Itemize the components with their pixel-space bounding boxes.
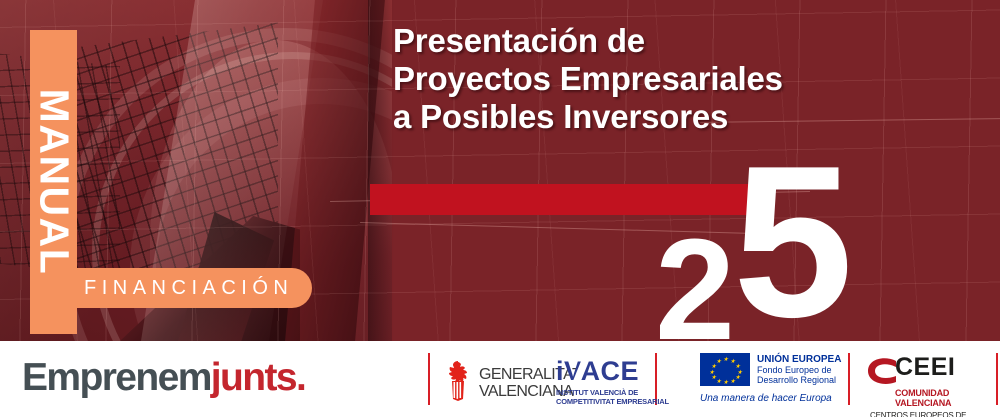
issue-number-units-digit: 5 <box>733 133 847 341</box>
eu-title: UNIÓN EUROPEA <box>757 354 841 365</box>
manual-spine-label: MANUAL <box>30 89 77 276</box>
eu-tagline: Una manera de hacer Europa <box>700 393 841 404</box>
page-title: Presentación de Proyectos Empresariales … <box>393 22 913 136</box>
title-line-3: a Posibles Inversores <box>393 98 913 136</box>
ivace-wordmark: iVACE <box>556 357 669 385</box>
eu-logo-row: ★ ★ ★ ★ ★ ★ ★ ★ ★ ★ ★ ★ UNIÓN EUROPEA Fo… <box>700 353 841 386</box>
footer-divider <box>848 353 850 405</box>
emprenemjunts-logo-text-red: junts. <box>211 356 305 399</box>
manual-cover-banner-page: 2 5 MANUAL FINANCIACIÓN Presentación de … <box>0 0 1000 417</box>
eu-text-block: UNIÓN EUROPEA Fondo Europeo de Desarroll… <box>757 354 841 385</box>
eu-flag-icon: ★ ★ ★ ★ ★ ★ ★ ★ ★ ★ ★ ★ <box>700 353 750 386</box>
ivace-wordmark-text: iVACE <box>556 356 639 386</box>
ceei-wordmark: CEEI <box>895 355 955 380</box>
ivace-subtitle-line-2: COMPETITIVITAT EMPRESARIAL <box>556 397 669 406</box>
footer-divider <box>996 353 998 405</box>
eu-subtitle-line-1: Fondo Europeo de <box>757 365 841 375</box>
emprenemjunts-logo[interactable]: Emprenemjunts. <box>22 355 305 401</box>
ceei-swoosh-icon <box>866 357 898 387</box>
banner: 2 5 MANUAL FINANCIACIÓN Presentación de … <box>0 0 1000 341</box>
ivace-subtitle: INSTITUT VALENCIÀ DE COMPETITIVITAT EMPR… <box>556 388 669 406</box>
ceei-subtitle: CENTROS EUROPEOS DE EMPRESAS INNOVADORAS <box>870 411 971 417</box>
photo-edge-seam <box>368 0 394 341</box>
ceei-region-line-2: VALENCIANA <box>895 398 971 408</box>
generalitat-emblem-icon <box>443 359 473 406</box>
title-line-1: Presentación de <box>393 22 913 60</box>
ivace-subtitle-line-1: INSTITUT VALENCIÀ DE <box>556 388 669 397</box>
european-union-logo[interactable]: ★ ★ ★ ★ ★ ★ ★ ★ ★ ★ ★ ★ UNIÓN EUROPEA Fo… <box>700 353 841 404</box>
ceei-subtitle-line-1: CENTROS EUROPEOS DE <box>870 411 971 417</box>
issue-number-tens-digit: 2 <box>655 218 735 341</box>
category-label: FINANCIACIÓN <box>62 277 293 300</box>
ceei-logo-row: CEEI <box>866 355 971 387</box>
footer-divider <box>428 353 430 405</box>
ivace-logo[interactable]: iVACE INSTITUT VALENCIÀ DE COMPETITIVITA… <box>556 357 669 406</box>
ceei-logo[interactable]: CEEI COMUNIDAD VALENCIANA CENTROS EUROPE… <box>866 355 971 417</box>
category-pill: FINANCIACIÓN <box>62 268 312 308</box>
eu-subtitle-line-2: Desarrollo Regional <box>757 375 841 385</box>
emprenemjunts-logo-text-dark: Emprenem <box>22 356 211 399</box>
title-line-2: Proyectos Empresariales <box>393 60 913 98</box>
sponsor-footer: Emprenemjunts. GENERALITAT <box>0 341 1000 417</box>
ceei-region: COMUNIDAD VALENCIANA <box>895 388 971 408</box>
ceei-region-line-1: COMUNIDAD <box>895 388 971 398</box>
